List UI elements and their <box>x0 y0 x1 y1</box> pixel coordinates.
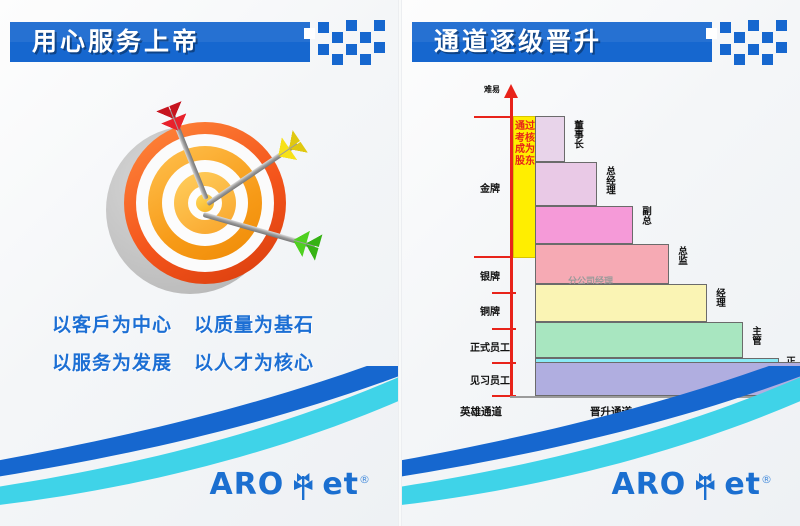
right-panel: 通道逐级晋升 难易 金牌 银牌 <box>402 0 800 526</box>
tick-silver <box>474 256 516 258</box>
decorative-swoosh-right <box>402 366 800 526</box>
tick-trainee <box>492 362 516 364</box>
logo-text-et: et <box>724 467 761 502</box>
step-label-director: 总监 <box>674 246 688 265</box>
tick-gold <box>474 116 516 118</box>
grade-label-bronze: 铜牌 <box>464 303 516 318</box>
wheat-leaf-icon <box>288 470 318 500</box>
step-general-manager <box>535 162 597 206</box>
brand-logo-left: ARO et ® <box>209 467 370 502</box>
logo-text-aro: ARO <box>611 467 686 502</box>
wheat-leaf-icon <box>690 470 720 500</box>
axis-top-label: 难易 <box>484 86 500 94</box>
step-label-chairman: 董事长 <box>570 120 584 149</box>
brand-logo-right: ARO et ® <box>611 467 772 502</box>
poster-stage: 用心服务上帝 <box>0 0 800 526</box>
step-label-general-manager: 总经理 <box>602 166 616 195</box>
grade-label-formal: 正式员工 <box>464 339 516 354</box>
decorative-swoosh-left <box>0 366 398 526</box>
step-supervisor <box>535 322 743 358</box>
step-vice-president <box>535 206 633 244</box>
registered-mark-icon: ® <box>761 473 772 486</box>
target-with-arrows-icon <box>96 104 306 294</box>
left-panel: 用心服务上帝 <box>0 0 398 526</box>
right-banner-pixel-pattern <box>702 14 794 72</box>
slogan-2: 以质量为基石 <box>194 310 314 337</box>
registered-mark-icon: ® <box>359 473 370 486</box>
left-banner-title: 用心服务上帝 <box>32 23 200 61</box>
shareholder-bar-text: 通过考核成为股东 <box>514 117 536 167</box>
slogan-1: 以客戶为中心 <box>52 310 172 337</box>
tick-bronze <box>492 292 516 294</box>
shareholder-bar: 通过考核成为股东 <box>513 116 537 258</box>
career-ladder-chart: 难易 金牌 银牌 铜牌 正式员工 见习员工 通过考核成为股东 董事长 总经理 <box>462 84 782 404</box>
step-label-manager: 经理 <box>712 288 726 307</box>
grade-label-gold: 金牌 <box>464 180 516 195</box>
logo-text-aro: ARO <box>209 467 284 502</box>
step-label-supervisor: 主管 <box>748 326 762 345</box>
tick-formal <box>492 328 516 330</box>
step-chairman <box>535 116 565 162</box>
right-banner-title: 通道逐级晋升 <box>434 23 602 61</box>
grade-label-silver: 银牌 <box>464 268 516 283</box>
logo-text-et: et <box>322 467 359 502</box>
step-label-vice-president: 副总 <box>638 206 652 225</box>
step-manager <box>535 284 707 322</box>
left-banner-pixel-pattern <box>300 14 392 72</box>
